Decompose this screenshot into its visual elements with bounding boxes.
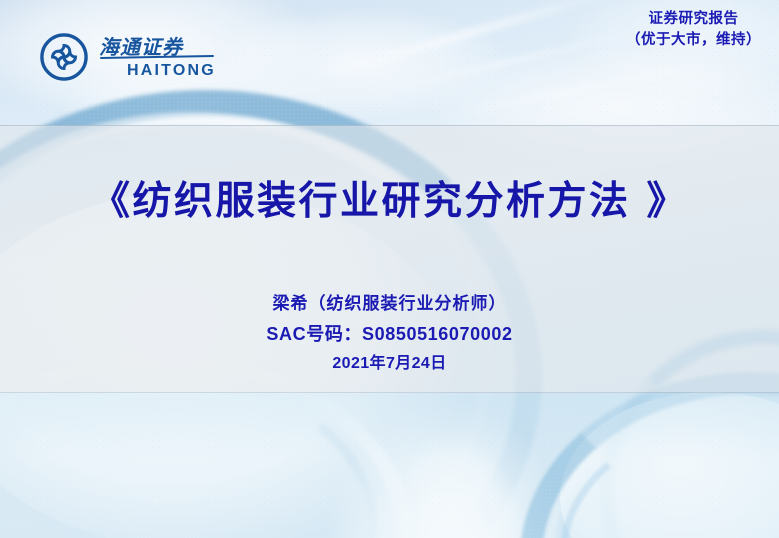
rating-label: （优于大市，维持） (626, 29, 761, 50)
brand-name-en: HAITONG (127, 63, 216, 79)
author-name-and-role: 梁希（纺织服装行业分析师） (0, 292, 779, 317)
report-type-label: 证券研究报告 (626, 8, 761, 29)
author-sac-number: SAC号码：S0850516070002 (0, 321, 779, 348)
presentation-date: 2021年7月24日 (0, 352, 779, 376)
svg-text:海通证券: 海通证券 (99, 35, 184, 59)
presentation-title-slide: 海通证券 HAITONG 证券研究报告 （优于大市，维持） 《纺织服装行业研究分… (0, 0, 779, 538)
page-title: 《纺织服装行业研究分析方法 》 (0, 178, 779, 225)
brand-name-cn-calligraphy-icon: 海通证券 (99, 35, 217, 60)
brand-logo: 海通证券 HAITONG (40, 33, 217, 81)
brand-wordmark: 海通证券 HAITONG (99, 35, 217, 79)
haitong-emblem-icon (40, 33, 88, 81)
slide-content: 海通证券 HAITONG 证券研究报告 （优于大市，维持） 《纺织服装行业研究分… (0, 0, 779, 538)
author-block: 梁希（纺织服装行业分析师） SAC号码：S0850516070002 2021年… (0, 292, 779, 376)
report-header-note: 证券研究报告 （优于大市，维持） (626, 8, 761, 50)
